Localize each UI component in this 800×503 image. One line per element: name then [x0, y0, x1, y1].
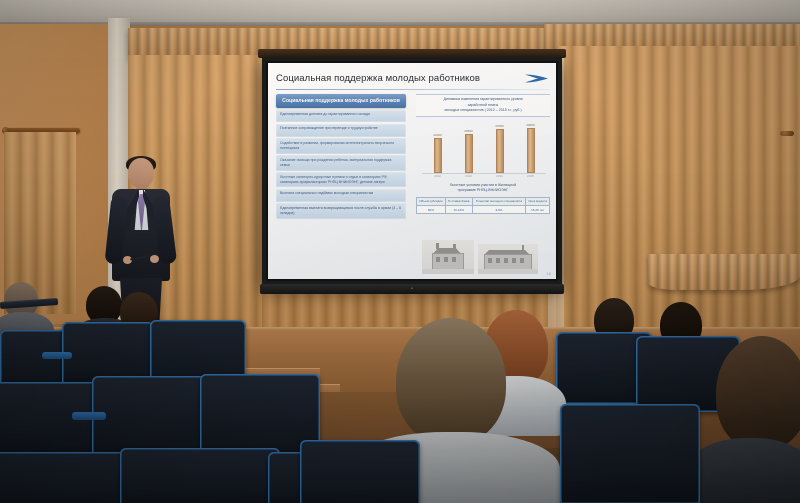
table-column-header: Объем субсидии	[417, 197, 446, 205]
seat-armrest	[72, 412, 106, 420]
salary-bar-chart: 21000 23500 27000 29000	[416, 121, 550, 181]
bar-value-label: 29000	[526, 123, 534, 127]
bar-group: 21000	[426, 123, 448, 173]
x-tick-label: 2014	[488, 174, 510, 181]
bar	[465, 134, 473, 173]
auditorium-seat[interactable]	[120, 448, 280, 503]
slide-title: Социальная поддержка молодых работников	[276, 73, 480, 84]
housing-building-photo-1	[422, 240, 474, 274]
x-tick-label: 2013	[457, 174, 479, 181]
left-panel-header: Социальная поддержка молодых работников	[276, 94, 406, 108]
left-panel-item: Поэтапное сопровождение при переезде и т…	[276, 124, 406, 137]
left-panel-item: Выплата специальных надбавок молодым спе…	[276, 189, 406, 202]
presenter-head	[128, 158, 154, 188]
auditorium-seat[interactable]	[300, 440, 420, 503]
housing-program-table: Объем субсидии % ставка банка % выплат м…	[416, 197, 550, 214]
left-panel-item: Содействие в развитии, формировании инте…	[276, 138, 406, 153]
audience-shoulders	[688, 438, 800, 503]
table-cell: 10-14%	[445, 206, 472, 214]
table-column-header: % выплат молодого специалиста	[472, 197, 526, 205]
table-cell: 15-20 лет	[526, 206, 550, 214]
slide-header: Социальная поддержка молодых работников	[276, 67, 550, 89]
curtain-hook-right	[780, 131, 794, 136]
slide-left-panel: Социальная поддержка молодых работников …	[276, 94, 406, 219]
slide-right-column: Динамика изменения гарантированного уров…	[416, 94, 550, 214]
table-column-header: Срок кредита	[526, 197, 550, 205]
presentation-slide: Социальная поддержка молодых работников …	[268, 63, 556, 279]
table-cell: 3-6%	[472, 206, 526, 214]
curtain-right	[556, 46, 800, 338]
table-header-row: Объем субсидии % ставка банка % выплат м…	[417, 197, 550, 205]
chart-title-line: молодых специалистов ( 2012 – 2015 г.г.,…	[418, 108, 548, 114]
slide-photo-strip	[416, 238, 550, 274]
bar	[527, 128, 535, 173]
chart-plot-area: 21000 23500 27000 29000	[422, 123, 546, 173]
chart-title: Динамика изменения гарантированного уров…	[416, 94, 550, 117]
bar	[496, 129, 504, 173]
bar-value-label: 23500	[464, 129, 472, 133]
auditorium-seat[interactable]	[0, 382, 100, 460]
slide-title-divider	[276, 89, 550, 90]
bar-group: 27000	[488, 123, 510, 173]
left-panel-item: Оказание помощи при рождении ребенка, ма…	[276, 155, 406, 170]
left-panel-item: Льготные санаторно-курортные путевки и о…	[276, 172, 406, 187]
table-title-line: программе РНПЦ-ВНИИОЭНГ	[416, 188, 550, 194]
audience-head	[716, 336, 800, 450]
audience-head	[396, 318, 506, 444]
left-panel-item: Единовременная выплата возвращающимся по…	[276, 203, 406, 218]
left-panel-item: Единовременная доплата до гарантированно…	[276, 110, 406, 123]
slide-page-number: 16	[547, 271, 551, 276]
x-tick-label: 2012	[426, 174, 448, 181]
table-title: Льготные условия участия в Жилищной прог…	[416, 183, 550, 194]
x-tick-label: 2015	[519, 174, 541, 181]
bar-group: 29000	[519, 123, 541, 173]
auditorium-seat[interactable]	[560, 404, 700, 503]
bar	[434, 138, 442, 173]
housing-building-photo-2	[478, 244, 538, 274]
table-cell: 60%	[417, 206, 446, 214]
table-column-header: % ставка банка	[445, 197, 472, 205]
bar-value-label: 21000	[433, 133, 441, 137]
seat-armrest	[42, 352, 72, 359]
presenter-hand-right	[150, 255, 159, 263]
auditorium-seat[interactable]	[0, 452, 130, 503]
table-row: 60% 10-14% 3-6% 15-20 лет	[417, 206, 550, 214]
bar-value-label: 27000	[495, 124, 503, 128]
bar-group: 23500	[457, 123, 479, 173]
chart-x-axis-labels: 2012 2013 2014 2015	[422, 174, 546, 181]
gazprom-swoosh-logo	[524, 72, 550, 85]
screen-bottom-bar: ●	[260, 284, 564, 294]
curtain-swag-right	[648, 254, 800, 290]
projection-screen[interactable]: Социальная поддержка молодых работников …	[262, 57, 562, 285]
projector-screen-brand: ●	[411, 286, 413, 290]
auditorium-presentation-photo: Социальная поддержка молодых работников …	[0, 0, 800, 503]
